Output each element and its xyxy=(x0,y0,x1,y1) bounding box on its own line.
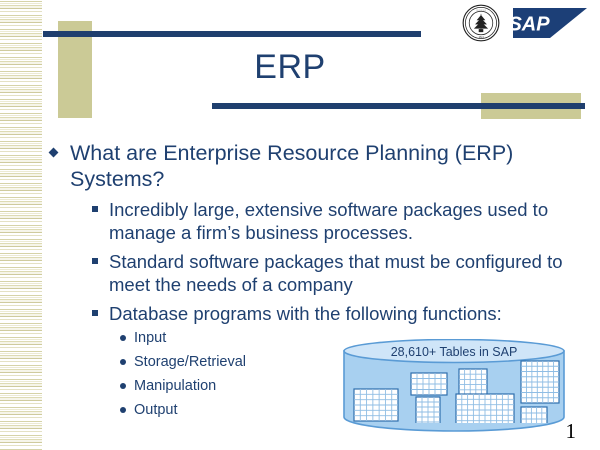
list-item: Standard software packages that must be … xyxy=(90,250,596,296)
list-item-label: What are Enterprise Resource Planning (E… xyxy=(70,141,513,191)
table-glyph-icon xyxy=(459,369,487,395)
square-bullet-icon xyxy=(92,310,98,316)
list-item-label: Storage/Retrieval xyxy=(134,354,246,370)
list-item-label: Input xyxy=(134,330,166,346)
database-cylinder-figure: 28,610+ Tables in SAP xyxy=(341,339,567,435)
title-rule-top xyxy=(43,31,421,37)
round-bullet-icon xyxy=(120,383,126,389)
list-item: Database programs with the following fun… xyxy=(90,302,596,325)
table-glyph-icon xyxy=(521,361,559,403)
list-item-label: Standard software packages that must be … xyxy=(109,251,563,295)
list-item: What are Enterprise Resource Planning (E… xyxy=(48,140,596,192)
list-item-label: Incredibly large, extensive software pac… xyxy=(109,199,548,243)
list-item-label: Manipulation xyxy=(134,378,216,394)
left-stripe-decoration xyxy=(0,0,42,450)
list-item: Incredibly large, extensive software pac… xyxy=(90,198,596,244)
table-glyph-icon xyxy=(521,407,547,425)
table-glyph-icon xyxy=(456,394,514,426)
list-item-label: Output xyxy=(134,402,178,418)
table-glyph-icon xyxy=(411,373,447,395)
title-rule-bottom xyxy=(212,103,585,109)
sap-logo-text: SAP xyxy=(513,14,550,36)
page-number: 1 xyxy=(566,419,577,444)
university-seal-icon: * * * * * 1824 xyxy=(462,4,500,42)
list-item-label: Database programs with the following fun… xyxy=(109,303,502,324)
round-bullet-icon xyxy=(120,359,126,365)
diamond-bullet-icon xyxy=(49,148,59,158)
svg-text:* * * * *: * * * * * xyxy=(476,10,486,13)
database-cylinder-graphic xyxy=(341,339,567,435)
page-title: ERP xyxy=(120,50,460,84)
slide-canvas: ERP * * * * * 1824 SAP What are Enterpri… xyxy=(0,0,600,450)
sap-logo: SAP xyxy=(513,8,587,38)
svg-text:1824: 1824 xyxy=(478,36,484,39)
round-bullet-icon xyxy=(120,407,126,413)
square-bullet-icon xyxy=(92,258,98,264)
square-bullet-icon xyxy=(92,206,98,212)
round-bullet-icon xyxy=(120,335,126,341)
table-glyph-icon xyxy=(354,389,398,421)
table-glyph-icon xyxy=(416,397,440,427)
